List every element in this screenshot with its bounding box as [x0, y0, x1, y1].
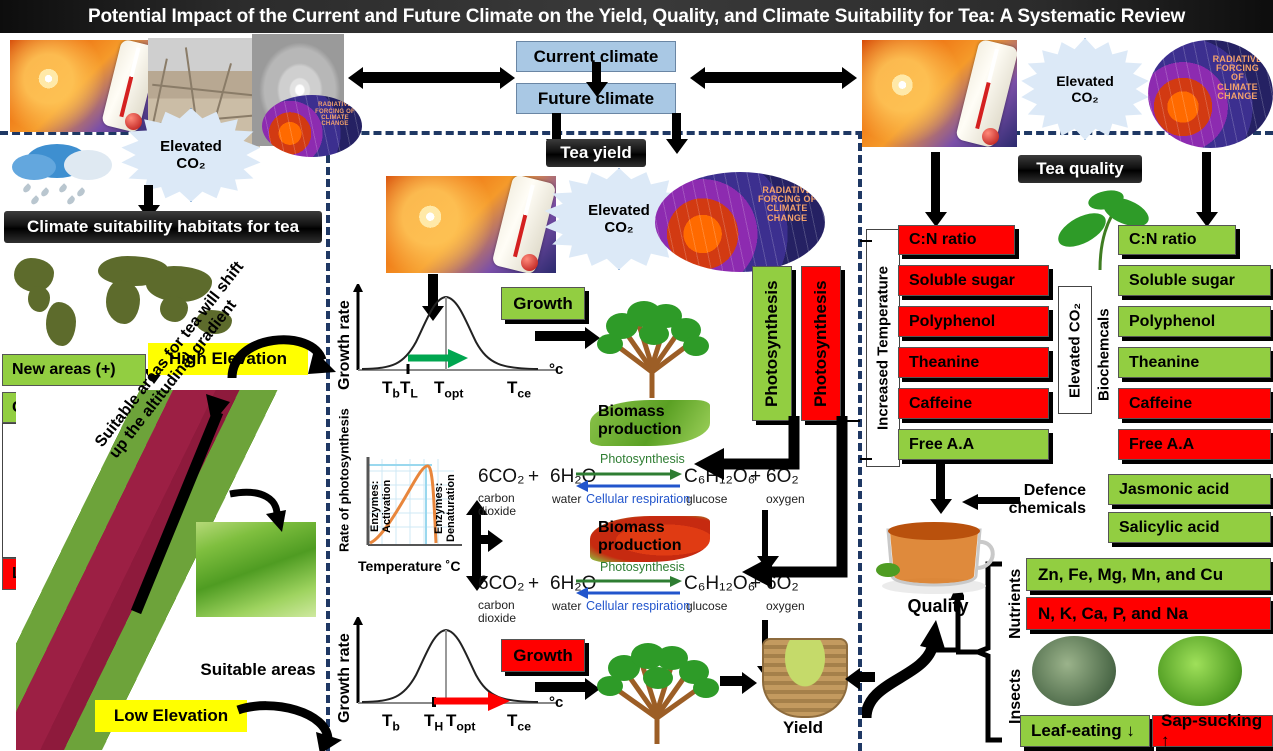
biochemicals-label: Biochemcals: [1092, 286, 1116, 424]
elevated-co2-line2-center: CO₂: [604, 219, 633, 236]
thermometer-bulb-icon: [125, 113, 142, 130]
photosynthesis-green-label: Photosynthesis: [753, 267, 791, 420]
temp-effect-free-aa-label: Free A.A: [909, 436, 974, 454]
quality-caption: Quality: [876, 596, 1000, 617]
page-title: Potential Impact of the Current and Futu…: [0, 0, 1273, 33]
eq-under-rhs1-bottom: glucose: [686, 599, 727, 613]
co2-effect-soluble-sugar-label: Soluble sugar: [1129, 272, 1235, 290]
defence-jasmonic-acid-label: Jasmonic acid: [1119, 481, 1229, 499]
increased-temperature-label: Increased Temperature: [866, 229, 900, 467]
eq-forward-label-bottom: Photosynthesis: [600, 560, 685, 574]
temp-effect-caffeine-label: Caffeine: [909, 395, 972, 413]
green-shift-arrow-top: [408, 349, 468, 369]
new-areas-label: New areas (+): [12, 361, 116, 379]
suitable-areas-image: [196, 522, 316, 617]
xunit-bottom: °c: [549, 694, 563, 711]
co2-effect-caffeine-label: Caffeine: [1129, 395, 1192, 413]
growth-box-top[interactable]: Growth: [501, 287, 585, 320]
elevated-co2-line2-right: CO₂: [1071, 89, 1098, 105]
defence-salicylic-acid-label: Salicylic acid: [1119, 519, 1220, 537]
new-areas-box[interactable]: New areas (+): [2, 354, 146, 386]
temp-effect-theanine[interactable]: Theanine: [898, 347, 1049, 378]
tick-tce-bottom: Tce: [507, 711, 531, 733]
hook-arrow-red-photosynthesis: [690, 416, 850, 601]
nutrients-decrease-label: N, K, Ca, P, and Na: [1038, 604, 1188, 624]
leaf-eating-box[interactable]: Leaf-eating ↓: [1020, 715, 1150, 747]
radiative-forcing-label: RADIATIVE FORCING OF CLIMATE CHANGE: [312, 102, 358, 126]
eq-reverse-label-top: Cellular respiration: [586, 492, 690, 506]
temp-effect-polyphenol-label: Polyphenol: [909, 313, 995, 331]
temp-effect-soluble-sugar[interactable]: Soluble sugar: [898, 265, 1049, 296]
sap-sucking-insect-image: [1158, 636, 1242, 706]
low-elevation-box[interactable]: Low Elevation: [95, 700, 247, 732]
enzyme-chart-ylabel: Rate of photosynthesis: [335, 400, 353, 560]
tea-yield-header: Tea yield: [546, 139, 646, 167]
poster-canvas: Potential Impact of the Current and Futu…: [0, 0, 1273, 751]
tea-cup-image: [876, 506, 1000, 596]
co2-effect-theanine-label: Theanine: [1129, 354, 1199, 372]
xunit-top: °c: [549, 361, 563, 378]
enzymes-denaturation-note: Enzymes: Denaturation: [430, 460, 460, 556]
eq-plus1-top: +: [528, 466, 539, 488]
radiative-forcing-globe-center: RADIATIVE FORCING OF CLIMATE CHANGE: [655, 172, 825, 272]
elevated-co2-line2: CO₂: [176, 155, 205, 172]
thermometer-bulb-icon-right: [982, 128, 999, 145]
leaf-eating-insect-image: [1032, 636, 1116, 706]
low-elevation-label: Low Elevation: [114, 706, 228, 726]
temp-effect-cn-ratio-label: C:N ratio: [909, 231, 977, 249]
radiative-forcing-globe-right: RADIATIVE FORCING OF CLIMATE CHANGE: [1148, 40, 1273, 148]
enzyme-chart-xlabel: Temperature ˚C: [358, 558, 460, 574]
co2-effect-free-aa[interactable]: Free A.A: [1118, 429, 1271, 460]
temp-effect-theanine-label: Theanine: [909, 354, 979, 372]
eq-forward-label-top: Photosynthesis: [600, 452, 685, 466]
eq-under-lhs1-top: carbon dioxide: [478, 492, 524, 518]
suitable-areas-caption: Suitable areas: [195, 660, 321, 680]
eq-lhs1-bottom: 6CO₂: [478, 573, 524, 595]
defence-salicylic-acid[interactable]: Salicylic acid: [1108, 512, 1271, 543]
red-shift-arrow-bottom: [434, 692, 510, 712]
bracket-temperature-lower: [860, 458, 872, 460]
divider-left-center: [326, 131, 330, 751]
curved-arrow-to-suitable-areas: [226, 486, 296, 534]
co2-effect-polyphenol-label: Polyphenol: [1129, 313, 1215, 331]
co2-effect-polyphenol[interactable]: Polyphenol: [1118, 306, 1271, 337]
tick-topt-bottom: Topt: [446, 711, 475, 733]
eq-lhs1-top: 6CO₂: [478, 466, 524, 488]
bracket-co2-connector: [846, 420, 860, 422]
nutrients-increase-box[interactable]: Zn, Fe, Mg, Mn, and Cu: [1026, 558, 1271, 591]
tea-quality-label: Tea quality: [1036, 159, 1124, 179]
temp-effect-cn-ratio[interactable]: C:N ratio: [898, 225, 1015, 255]
tea-quality-header: Tea quality: [1018, 155, 1142, 183]
radiative-forcing-label-center: RADIATIVE FORCING OF CLIMATE CHANGE: [756, 186, 818, 223]
tick-tce-top: Tce: [507, 378, 531, 400]
co2-effect-theanine[interactable]: Theanine: [1118, 347, 1271, 378]
elevated-co2-burst-right: Elevated CO₂: [1020, 38, 1150, 140]
leaf-eating-label: Leaf-eating ↓: [1031, 721, 1135, 741]
curved-arrow-high-elevation: [226, 316, 336, 386]
yield-basket-image: [762, 638, 848, 718]
tea-bush-image-top: [592, 282, 712, 400]
tick-tb-top: Tb: [382, 378, 400, 400]
photosynthesis-green-box[interactable]: Photosynthesis: [752, 266, 792, 421]
nutrients-increase-label: Zn, Fe, Mg, Mn, and Cu: [1038, 565, 1223, 585]
sap-sucking-box[interactable]: Sap-sucking ↑: [1152, 715, 1273, 747]
sun-thermometer-image-right: [862, 40, 1017, 147]
growth-box-bottom[interactable]: Growth: [501, 639, 585, 672]
photosynthesis-red-label: Photosynthesis: [802, 267, 840, 420]
elevated-co2-axis-label: Elevated CO₂: [1058, 286, 1092, 414]
rain-cloud-image: [8, 138, 128, 208]
enzymes-activation-note: Enzymes: Activation: [366, 463, 396, 549]
co2-effect-free-aa-label: Free A.A: [1129, 436, 1194, 454]
co2-effect-cn-ratio[interactable]: C:N ratio: [1118, 225, 1236, 255]
yield-caption: Yield: [762, 718, 844, 738]
radiative-forcing-label-right: RADIATIVE FORCING OF CLIMATE CHANGE: [1210, 55, 1266, 101]
climate-suitability-label: Climate suitability habitats for tea: [27, 217, 299, 237]
tick-topt-top: Topt: [434, 378, 463, 400]
tea-yield-label: Tea yield: [560, 143, 632, 163]
biomass-production-label-top: Biomass production: [598, 403, 702, 439]
elevated-co2-line1: Elevated: [160, 138, 222, 155]
temp-effect-polyphenol[interactable]: Polyphenol: [898, 306, 1049, 337]
curved-arrow-low-elevation: [232, 696, 342, 751]
thermometer-bulb-icon-center: [521, 254, 538, 271]
growth-label-bottom: Growth: [513, 646, 573, 666]
eq-plus1-bottom: +: [528, 573, 539, 595]
temp-effect-soluble-sugar-label: Soluble sugar: [909, 272, 1015, 290]
tick-tl-top: TL: [400, 378, 418, 400]
temp-effect-free-aa[interactable]: Free A.A: [898, 429, 1049, 460]
co2-effect-soluble-sugar[interactable]: Soluble sugar: [1118, 265, 1271, 296]
eq-reverse-label-bottom: Cellular respiration: [586, 599, 690, 613]
radiative-forcing-globe-left: RADIATIVE FORCING OF CLIMATE CHANGE: [262, 95, 362, 157]
eq-under-rhs2-bottom: oxygen: [766, 599, 805, 613]
elevated-co2-line1-center: Elevated: [588, 202, 650, 219]
growth-label-top: Growth: [513, 294, 573, 314]
elevated-co2-line1-right: Elevated: [1056, 73, 1114, 89]
photosynthesis-red-box[interactable]: Photosynthesis: [801, 266, 841, 421]
tea-bush-image-bottom: [592, 628, 722, 746]
temp-effect-caffeine[interactable]: Caffeine: [898, 388, 1049, 419]
nutrients-decrease-box[interactable]: N, K, Ca, P, and Na: [1026, 597, 1271, 630]
defence-jasmonic-acid[interactable]: Jasmonic acid: [1108, 474, 1271, 505]
biomass-production-label-bottom: Biomass production: [598, 519, 702, 555]
sun-thermometer-image: [10, 40, 158, 132]
tick-tb-bottom: Tb: [382, 711, 400, 733]
co2-effect-cn-ratio-label: C:N ratio: [1129, 231, 1197, 249]
bracket-temperature: [860, 240, 872, 242]
climate-suitability-header: Climate suitability habitats for tea: [4, 211, 322, 243]
co2-effect-caffeine[interactable]: Caffeine: [1118, 388, 1271, 419]
sun-thermometer-image-center: [386, 176, 556, 273]
curved-arrow-to-quality: [862, 620, 972, 730]
tick-th-bottom: TH: [424, 711, 443, 733]
sap-sucking-label: Sap-sucking ↑: [1161, 711, 1272, 751]
